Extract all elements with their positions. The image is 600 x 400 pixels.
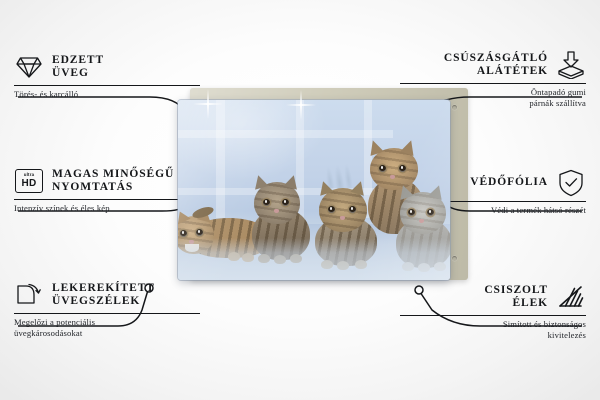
feature-header: LEKEREKÍTETTÜVEGSZÉLEK xyxy=(14,280,200,310)
feature-title: VÉDŐFÓLIA xyxy=(470,176,548,190)
feature-description: Megelőzi a potenciálisüvegkárosodásokat xyxy=(14,317,200,339)
feature-title: MAGAS MINŐSÉGŰNYOMTATÁS xyxy=(52,168,174,195)
feature-description: Intenzív színek és éles kép xyxy=(14,203,200,214)
hatched-triangle-icon xyxy=(556,282,586,312)
ultra-hd-badge-icon: ultra HD xyxy=(14,166,44,196)
hd-badge-hd-label: HD xyxy=(21,179,36,189)
feature-tempered-glass: EDZETTÜVEG Törés- és karcálló xyxy=(14,52,200,100)
feature-divider xyxy=(14,85,200,86)
feature-header: ultra HD MAGAS MINŐSÉGŰNYOMTATÁS xyxy=(14,166,200,196)
feature-rounded-edges: LEKEREKÍTETTÜVEGSZÉLEK Megelőzi a potenc… xyxy=(14,280,200,339)
infographic-stage: EDZETTÜVEG Törés- és karcálló ultra HD M… xyxy=(0,0,600,400)
rounded-corner-arrow-icon xyxy=(14,280,44,310)
printed-photo xyxy=(178,100,450,280)
connector-line-tempered-glass xyxy=(18,97,196,124)
feature-divider xyxy=(14,313,200,314)
feature-divider xyxy=(400,315,586,316)
stacked-pads-down-arrow-icon xyxy=(556,50,586,80)
product-illustration xyxy=(178,88,468,288)
feature-title: CSÚSZÁSGÁTLÓALÁTÉTEK xyxy=(444,52,548,79)
feature-divider xyxy=(400,83,586,84)
feature-header: CSÚSZÁSGÁTLÓALÁTÉTEK xyxy=(400,50,586,80)
feature-divider xyxy=(14,199,200,200)
diamond-icon xyxy=(14,52,44,82)
window-frame-vertical xyxy=(216,100,225,218)
glass-panel xyxy=(178,100,450,280)
window-frame-horizontal xyxy=(178,130,393,138)
feature-title: CSISZOLTÉLEK xyxy=(484,284,548,311)
mounting-screw-bottom xyxy=(452,256,457,261)
feature-title: LEKEREKÍTETTÜVEGSZÉLEK xyxy=(52,282,155,309)
mounting-screw-top xyxy=(452,105,457,110)
feature-polished-edges: CSISZOLTÉLEK Simított és biztonságoskivi… xyxy=(400,282,586,341)
feature-header: CSISZOLTÉLEK xyxy=(400,282,586,312)
feature-high-quality-print: ultra HD MAGAS MINŐSÉGŰNYOMTATÁS Intenzí… xyxy=(14,166,200,214)
feature-description: Simított és biztonságoskivitelezés xyxy=(400,319,586,341)
feature-description: Törés- és karcálló xyxy=(14,89,200,100)
shield-check-icon xyxy=(556,168,586,198)
feature-title: EDZETTÜVEG xyxy=(52,54,104,81)
feature-header: EDZETTÜVEG xyxy=(14,52,200,82)
